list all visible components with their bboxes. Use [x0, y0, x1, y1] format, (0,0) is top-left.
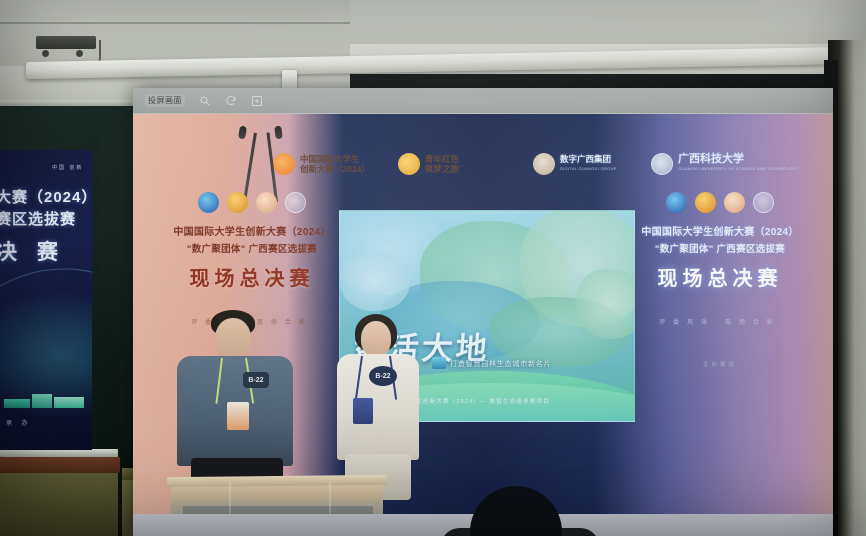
front-desk-top — [0, 457, 120, 473]
banner-left-line1: 中国国际大学生创新大赛（2024） — [157, 223, 347, 238]
banner-left-line3: 现场总决赛 — [157, 262, 347, 291]
presenter-right: B-22 — [331, 314, 427, 500]
projector-toolbar-label: 投屏画面 — [145, 94, 185, 107]
presenter-left-head — [215, 318, 251, 360]
bracket-screw — [76, 50, 83, 57]
icon-competition — [198, 192, 219, 213]
banner-right-line2: "数广聚团体" 广西赛区选拔赛 — [625, 241, 815, 255]
presenter-left-badge-number: B-22 — [243, 372, 269, 388]
video-subtitle: 打造智慧园林生态城市新名片 — [450, 359, 551, 369]
screenshot-root: 中国 创新 大赛（2024） 赛区选拔赛 决 赛 承 办 投屏画面 — [0, 0, 866, 536]
banner-right-icons — [625, 192, 815, 213]
zoom-icon[interactable] — [198, 94, 211, 107]
side-banner-bottom-small: 承 办 — [6, 418, 32, 427]
banner-right-line4: 评委风采 现场合影 — [625, 317, 815, 326]
digital-guangxi-logo-text: 数字广西集团 DIGITAL GUANGXI GROUP — [560, 154, 617, 175]
podium-seam — [229, 482, 231, 514]
projection-screen: 投屏画面 — [133, 88, 833, 536]
competition-logo-text: 中国国际大学生 创新大赛（2024） — [300, 154, 370, 175]
icon-competition — [666, 192, 687, 213]
bracket-screw — [42, 50, 49, 57]
banner-panel-right: 中国国际大学生创新大赛（2024） "数广聚团体" 广西赛区选拔赛 现场总决赛 … — [625, 192, 815, 462]
competition-logo: 中国国际大学生 创新大赛（2024） — [273, 153, 370, 175]
side-led-banner: 中国 创新 大赛（2024） 赛区选拔赛 决 赛 承 办 — [0, 150, 92, 450]
icon-group — [256, 192, 277, 213]
projector-mount-bracket — [36, 36, 96, 49]
banner-right-line5: 主办单位 — [625, 360, 815, 368]
icon-journey — [695, 192, 716, 213]
slide-content: 中国国际大学生 创新大赛（2024） 青年红色 筑梦之旅 数字广西集团 DI — [133, 114, 833, 514]
banner-skyline-graphic — [0, 378, 92, 408]
university-logo-mark — [651, 153, 673, 175]
side-banner-line2: 赛区选拔赛 — [0, 208, 76, 229]
competition-logo-mark — [273, 153, 295, 175]
front-desk-body — [0, 473, 118, 536]
digital-guangxi-logo: 数字广西集团 DIGITAL GUANGXI GROUP — [533, 153, 617, 175]
icon-university — [753, 192, 774, 213]
icon-journey — [227, 192, 248, 213]
banner-right-line3: 现场总决赛 — [625, 262, 815, 291]
podium-seam — [329, 482, 331, 514]
side-banner-top-small: 中国 创新 — [52, 164, 83, 171]
university-logo: 广西科技大学 GUANGXI UNIVERSITY OF SCIENCE AND… — [651, 153, 799, 175]
red-journey-logo-text: 青年红色 筑梦之旅 — [425, 154, 459, 175]
banner-left-line2: "数广聚团体" 广西赛区选拔赛 — [157, 241, 347, 255]
red-journey-logo-mark — [398, 153, 420, 175]
fullscreen-icon[interactable] — [250, 94, 263, 107]
red-journey-logo: 青年红色 筑梦之旅 — [398, 153, 459, 175]
ceiling-slab-right — [350, 0, 866, 44]
ceiling-seam — [0, 22, 350, 24]
icon-group — [724, 192, 745, 213]
video-subtitle-badge — [432, 357, 446, 369]
chalk-tray — [0, 449, 118, 457]
slide-logo-bar: 中国国际大学生 创新大赛（2024） 青年红色 筑梦之旅 数字广西集团 DI — [133, 136, 833, 192]
audience-shoulders-silhouette — [440, 528, 600, 536]
refresh-icon[interactable] — [224, 94, 237, 107]
presenter-right-id-card — [353, 398, 373, 424]
side-banner-line1: 大赛（2024） — [0, 186, 92, 207]
icon-university — [285, 192, 306, 213]
digital-guangxi-logo-mark — [533, 153, 555, 175]
podium-front-face — [183, 506, 373, 514]
projector-toolbar[interactable]: 投屏画面 — [133, 88, 833, 114]
banner-right-line1: 中国国际大学生创新大赛（2024） — [625, 223, 815, 238]
presenter-left-id-card — [227, 402, 249, 430]
presenter-right-head — [361, 321, 391, 357]
university-logo-text: 广西科技大学 GUANGXI UNIVERSITY OF SCIENCE AND… — [678, 154, 799, 175]
side-banner-line3: 决 赛 — [0, 236, 65, 266]
banner-left-icons — [157, 192, 347, 213]
presenter-right-badge-number: B-22 — [369, 366, 397, 386]
presenter-left: B-22 — [171, 310, 301, 500]
microphone-head-right — [274, 126, 283, 140]
